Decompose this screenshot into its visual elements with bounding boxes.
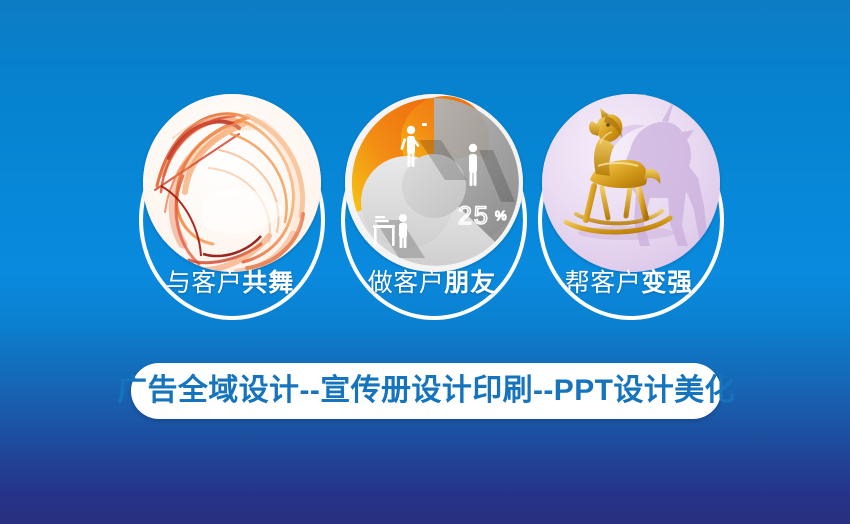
card-label-lead: 帮客户: [565, 269, 642, 297]
card-label-lead: 做客户: [368, 269, 445, 297]
infographic-illustration: 25 %: [345, 94, 523, 272]
poster-canvas: 与客户共舞: [0, 0, 850, 524]
stat-percent-sign: %: [495, 208, 507, 223]
card-label-accent: 变强: [641, 269, 693, 297]
card-label-dance: 与客户共舞: [125, 268, 335, 298]
smoke-swirl-illustration: [143, 94, 321, 272]
card-label-friend: 做客户朋友: [327, 268, 537, 298]
golden-rocking-horse-unicorn-shadow-photo: [542, 94, 720, 272]
service-card-group: 与客户共舞: [0, 0, 850, 350]
rocking-horse-illustration: [542, 94, 720, 272]
card-label-lead: 与客户: [166, 269, 243, 297]
card-label-accent: 朋友: [444, 269, 496, 297]
pie-chart-people-infographic: 25 %: [345, 94, 523, 272]
tagline-banner[interactable]: 广告全域设计--宣传册设计印刷--PPT设计美化: [131, 363, 721, 419]
card-label-accent: 共舞: [242, 269, 294, 297]
service-card-friend[interactable]: 25 % 做客户朋友: [327, 82, 537, 332]
service-card-stronger[interactable]: 帮客户变强: [524, 82, 734, 332]
stat-25-percent-value: 25: [458, 202, 490, 230]
red-orange-smoke-swirl-photo: [143, 94, 321, 272]
card-label-stronger: 帮客户变强: [524, 268, 734, 298]
tagline-text: 广告全域设计--宣传册设计印刷--PPT设计美化: [117, 374, 735, 408]
service-card-dance[interactable]: 与客户共舞: [125, 82, 335, 332]
